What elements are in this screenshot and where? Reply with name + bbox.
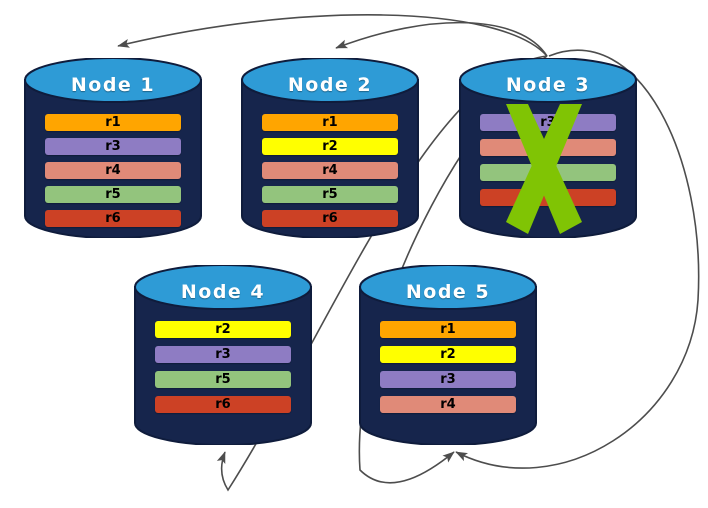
record-bar: r3 [480, 114, 616, 131]
record-bar: r3 [45, 138, 181, 155]
record-bar: r4 [45, 162, 181, 179]
record-bar: r1 [45, 114, 181, 131]
record-list: r1r2r4r5r6 [262, 114, 398, 234]
record-bar: r2 [155, 321, 291, 338]
record-bar [480, 189, 616, 206]
record-bar: r4 [262, 162, 398, 179]
node-title: Node 3 [458, 74, 638, 96]
record-list: r1r3r4r5r6 [45, 114, 181, 234]
node-cylinder-1[interactable]: Node 1r1r3r4r5r6 [23, 58, 203, 238]
record-bar: r6 [45, 210, 181, 227]
node-title: Node 5 [358, 281, 538, 303]
record-bar: r4 [380, 396, 516, 413]
node-title: Node 1 [23, 74, 203, 96]
node-title: Node 4 [133, 281, 313, 303]
arrow-node3-to-node2 [336, 23, 547, 56]
record-bar: r6 [155, 396, 291, 413]
node-title: Node 2 [240, 74, 420, 96]
record-bar: r5 [45, 186, 181, 203]
record-bar: r6 [262, 210, 398, 227]
node-cylinder-3[interactable]: Node 3r3 [458, 58, 638, 238]
arrow-node3-to-node1 [118, 15, 547, 56]
record-list: r1r2r3r4 [380, 321, 516, 421]
record-bar: r1 [262, 114, 398, 131]
record-bar: r2 [262, 138, 398, 155]
record-list: r2r3r5r6 [155, 321, 291, 421]
record-bar: r5 [155, 371, 291, 388]
record-bar: r5 [262, 186, 398, 203]
record-bar: r2 [380, 346, 516, 363]
diagram-canvas: Node 1r1r3r4r5r6Node 2r1r2r4r5r6Node 3r3… [0, 0, 708, 508]
record-list: r3 [480, 114, 616, 214]
record-bar: r1 [380, 321, 516, 338]
node-cylinder-5[interactable]: Node 5r1r2r3r4 [358, 265, 538, 445]
record-bar: r3 [155, 346, 291, 363]
node-cylinder-4[interactable]: Node 4r2r3r5r6 [133, 265, 313, 445]
record-bar: r3 [380, 371, 516, 388]
record-bar [480, 139, 616, 156]
node-cylinder-2[interactable]: Node 2r1r2r4r5r6 [240, 58, 420, 238]
record-bar [480, 164, 616, 181]
